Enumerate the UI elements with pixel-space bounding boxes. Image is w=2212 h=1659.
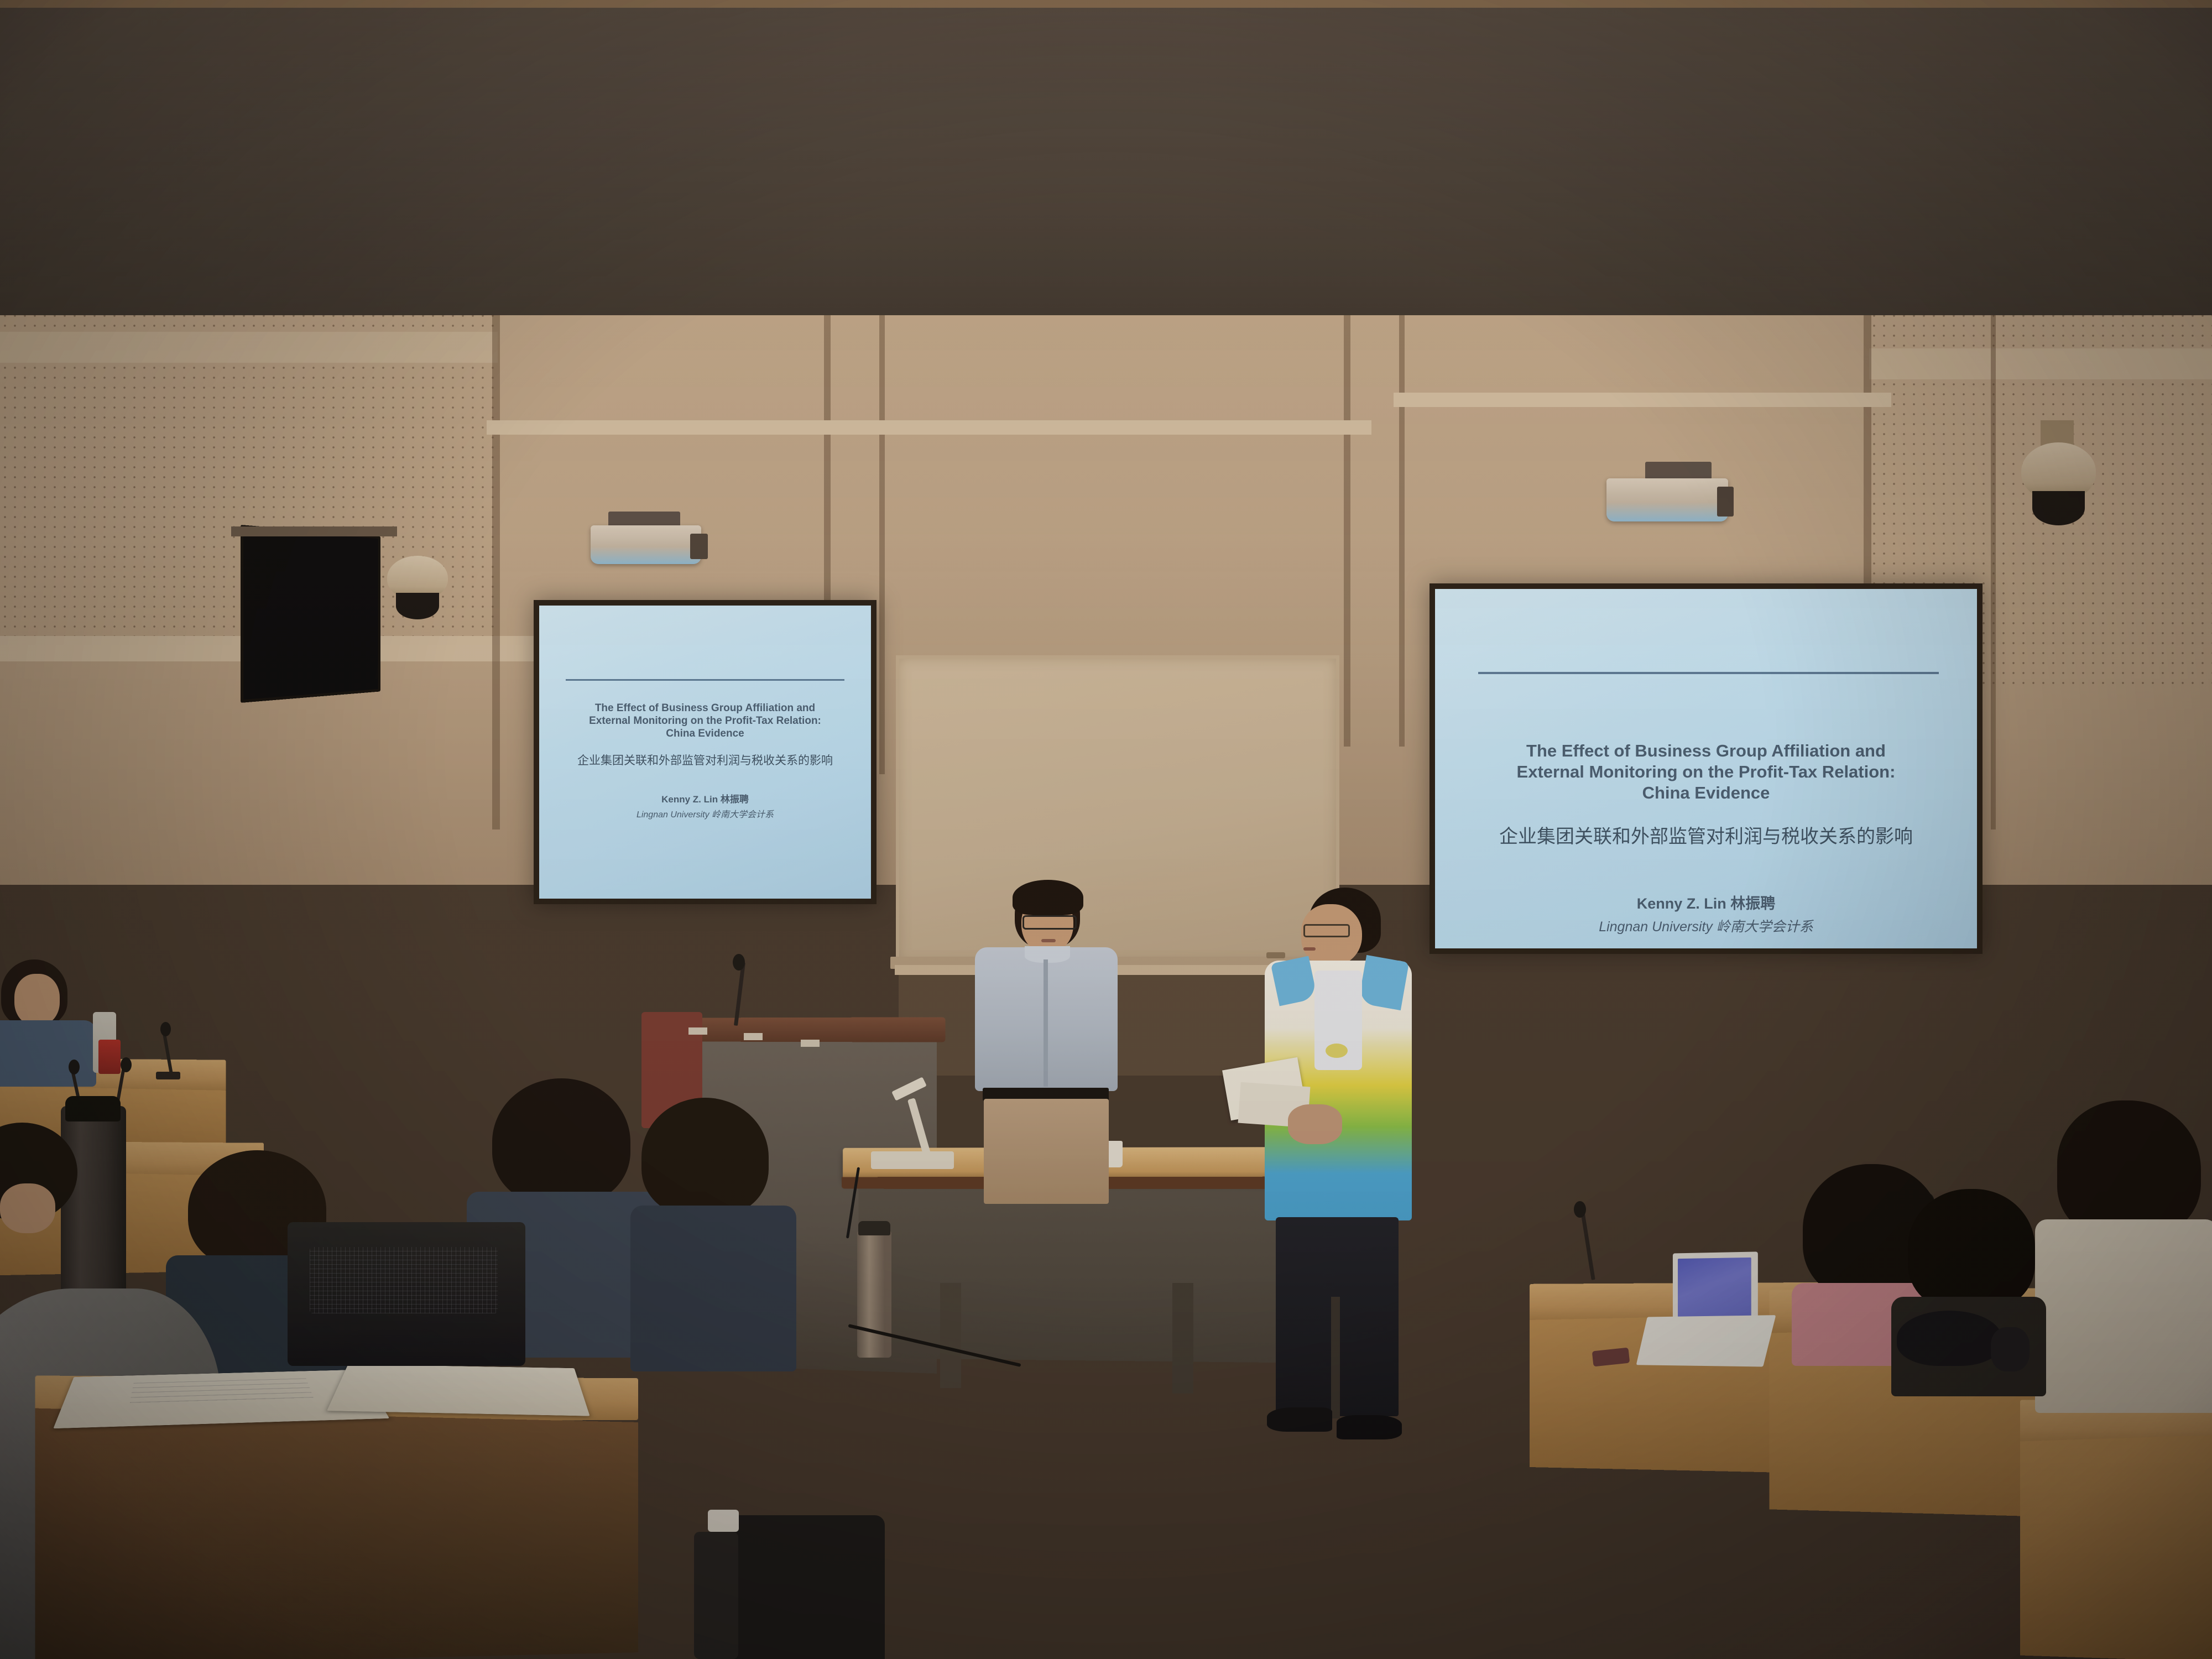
- presenter-mouth: [1041, 939, 1056, 942]
- questioner-mouth: [1303, 947, 1316, 951]
- slide-title-line1: The Effect of Business Group Affiliation…: [549, 702, 861, 714]
- slide-affiliation: Lingnan University 岭南大学会计系: [637, 807, 774, 820]
- lecture-hall-photo: The Effect of Business Group Affiliation…: [0, 0, 2212, 1659]
- document-camera-icon[interactable]: [871, 1151, 954, 1169]
- microphone-head-icon: [160, 1022, 171, 1036]
- presenter-placket: [1044, 959, 1048, 1087]
- attendee-right-2-top: [2035, 1219, 2212, 1413]
- questioner-hands: [1288, 1104, 1342, 1144]
- dome-camera-lens-icon: [2032, 491, 2085, 525]
- tablet-screen[interactable]: [1678, 1258, 1751, 1318]
- left-screen: The Effect of Business Group Affiliation…: [534, 600, 877, 904]
- attendee-right-3-hair: [1908, 1189, 2035, 1311]
- wall-monitor-icon[interactable]: [241, 525, 380, 703]
- microphone-right-1[interactable]: [1580, 1211, 1595, 1280]
- attendee-left-1-face: [14, 974, 60, 1026]
- questioner-shoe-right: [1337, 1415, 1402, 1439]
- attendee-front-3-top: [630, 1206, 796, 1371]
- desk-leg-left: [940, 1283, 961, 1388]
- thermos-lid: [65, 1096, 121, 1121]
- slide-title-line1: The Effect of Business Group Affiliation…: [1449, 740, 1964, 761]
- podium-microphone-head-icon: [733, 954, 745, 971]
- right-screen: The Effect of Business Group Affiliation…: [1430, 583, 1983, 954]
- microphone-head-icon: [69, 1060, 80, 1074]
- epson-projector-icon: [1606, 478, 1728, 521]
- projector-lens-left: [690, 534, 708, 559]
- presenter: [954, 882, 1136, 1203]
- podium-hinge-2: [744, 1033, 763, 1040]
- projector-mount-right: [1645, 462, 1712, 479]
- slide-author: Kenny Z. Lin 林振聘: [661, 791, 749, 805]
- questioner-glasses-icon: [1303, 924, 1350, 937]
- desk-face-right-front: [2020, 1434, 2212, 1659]
- speaker-questioner: [1253, 888, 1418, 1446]
- right-slide: The Effect of Business Group Affiliation…: [1435, 589, 1977, 948]
- slide-title-chinese: 企业集团关联和外部监管对利润与税收关系的影响: [1443, 821, 1969, 848]
- wall-monitor-bracket: [231, 526, 397, 536]
- questioner-shoe-left: [1267, 1407, 1332, 1432]
- attendee-front-3: [636, 1098, 802, 1374]
- dome-camera-lens-icon: [396, 593, 439, 619]
- attendee-left-2-face: [0, 1183, 55, 1233]
- presenter-hair: [1013, 880, 1083, 915]
- thermos-lid-2: [858, 1221, 890, 1235]
- questioner-leg-gap: [1331, 1297, 1340, 1418]
- laptop-bag-mesh: [310, 1247, 498, 1313]
- projector-lens-right: [1717, 487, 1734, 517]
- slide-title-chinese: 企业集团关联和外部监管对利润与税收关系的影响: [542, 752, 868, 768]
- tablet-stand: [1636, 1315, 1776, 1366]
- microphone-base: [156, 1072, 180, 1079]
- paper-cup-foreground: [708, 1510, 739, 1532]
- epson-projector-icon: [591, 525, 701, 564]
- questioner-jacket-logo: [1326, 1044, 1348, 1058]
- slide-title-line3: China Evidence: [1449, 782, 1964, 804]
- desk-leg-right: [1172, 1283, 1193, 1394]
- slide-author: Kenny Z. Lin 林振聘: [1637, 891, 1776, 913]
- presenter-glasses-icon: [1022, 915, 1077, 930]
- slide-title-line2: External Monitoring on the Profit-Tax Re…: [546, 714, 864, 727]
- headphones-cup: [1991, 1327, 2030, 1371]
- attendee-right-2-hair: [2057, 1100, 2201, 1239]
- podium-microphone[interactable]: [734, 962, 745, 1026]
- headphones-icon: [1897, 1311, 2002, 1366]
- slide-affiliation: Lingnan University 岭南大学会计系: [1599, 916, 1813, 936]
- microphone-head-icon: [121, 1057, 132, 1072]
- carpet-floor: [0, 0, 2212, 315]
- microphone-head-icon: [1574, 1201, 1586, 1218]
- desk-face-foreground: [35, 1408, 638, 1659]
- attendee-front-3-hair: [641, 1098, 769, 1217]
- thermos-bottle-2: [857, 1230, 891, 1358]
- attendee-front-2-hair: [492, 1078, 630, 1206]
- left-slide: The Effect of Business Group Affiliation…: [539, 606, 871, 899]
- chair-arm: [694, 1532, 738, 1659]
- podium-hinge-3: [801, 1040, 820, 1047]
- slide-title-line2: External Monitoring on the Profit-Tax Re…: [1443, 761, 1969, 782]
- attendee-right-2: [2018, 1100, 2212, 1410]
- chair-back: [724, 1515, 885, 1659]
- podium-hinge-1: [688, 1027, 707, 1035]
- attendee-left-2: [0, 1123, 133, 1300]
- presenter-trousers: [984, 1099, 1109, 1204]
- open-notebook-right-page: [327, 1364, 590, 1416]
- slide-title-line3: China Evidence: [549, 727, 861, 740]
- attendee-left-1-top: [0, 1020, 96, 1087]
- soda-can: [98, 1040, 121, 1074]
